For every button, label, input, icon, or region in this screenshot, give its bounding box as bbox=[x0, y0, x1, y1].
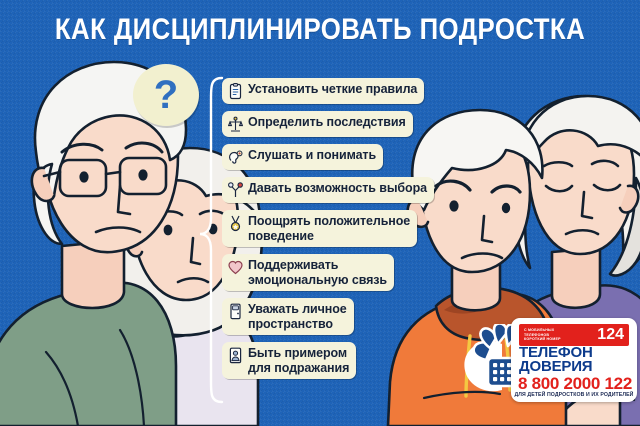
tip-item-1[interactable]: Установить четкие правила bbox=[222, 78, 424, 104]
tip-label: Установить четкие правила bbox=[248, 82, 417, 97]
tip-item-3[interactable]: Слушать и понимать bbox=[222, 144, 383, 170]
curly-brace bbox=[198, 76, 224, 404]
tip-label: Поощрять положительноеповедение bbox=[248, 214, 410, 243]
scales-icon bbox=[228, 116, 243, 133]
tip-label: Уважать личноепространство bbox=[248, 302, 347, 331]
medal-icon bbox=[228, 215, 243, 232]
tip-label: Определить последствия bbox=[248, 115, 406, 130]
tip-item-6[interactable]: Поддерживатьэмоциональную связь bbox=[222, 254, 394, 291]
mirror-icon bbox=[228, 347, 243, 364]
logo-card: С МОБИЛЬНЫХ ТЕЛЕФОНОВ КОРОТКИЙ НОМЕР 124… bbox=[511, 318, 637, 402]
choice-icon bbox=[228, 182, 243, 199]
short-number: 124 bbox=[597, 327, 624, 343]
tip-item-8[interactable]: Быть примеромдля подражания bbox=[222, 342, 356, 379]
hotline-audience: ДЛЯ ДЕТЕЙ ПОДРОСТКОВ И ИХ РОДИТЕЛЕЙ bbox=[511, 392, 637, 398]
trust-line-logo[interactable]: С МОБИЛЬНЫХ ТЕЛЕФОНОВ КОРОТКИЙ НОМЕР 124… bbox=[462, 318, 637, 404]
short-number-bar: С МОБИЛЬНЫХ ТЕЛЕФОНОВ КОРОТКИЙ НОМЕР 124 bbox=[519, 324, 629, 346]
mobile-note: С МОБИЛЬНЫХ ТЕЛЕФОНОВ КОРОТКИЙ НОМЕР bbox=[524, 328, 561, 342]
logo-name: ТЕЛЕФОН ДОВЕРИЯ bbox=[519, 346, 631, 374]
tip-item-2[interactable]: Определить последствия bbox=[222, 111, 413, 137]
poster-canvas: КАК ДИСЦИПЛИНИРОВАТЬ ПОДРОСТКА ? Установ… bbox=[0, 0, 640, 426]
heart-icon bbox=[228, 259, 243, 276]
poster-title: КАК ДИСЦИПЛИНИРОВАТЬ ПОДРОСТКА bbox=[45, 14, 595, 46]
tip-label: Быть примеромдля подражания bbox=[248, 346, 349, 375]
tip-label: Давать возможность выбора bbox=[248, 181, 427, 196]
tips-list: Установить четкие правила Определить пос… bbox=[222, 78, 454, 386]
clipboard-icon bbox=[228, 83, 243, 100]
hotline-number[interactable]: 8 800 2000 122 bbox=[514, 375, 636, 392]
question-bubble: ? bbox=[133, 64, 199, 126]
ear-icon bbox=[228, 149, 243, 166]
tip-item-5[interactable]: Поощрять положительноеповедение bbox=[222, 210, 417, 247]
tip-item-4[interactable]: Давать возможность выбора bbox=[222, 177, 434, 203]
tip-label: Поддерживатьэмоциональную связь bbox=[248, 258, 387, 287]
tip-item-7[interactable]: Уважать личноепространство bbox=[222, 298, 354, 335]
tip-label: Слушать и понимать bbox=[248, 148, 376, 163]
question-mark: ? bbox=[154, 75, 178, 115]
door-icon bbox=[228, 303, 243, 320]
